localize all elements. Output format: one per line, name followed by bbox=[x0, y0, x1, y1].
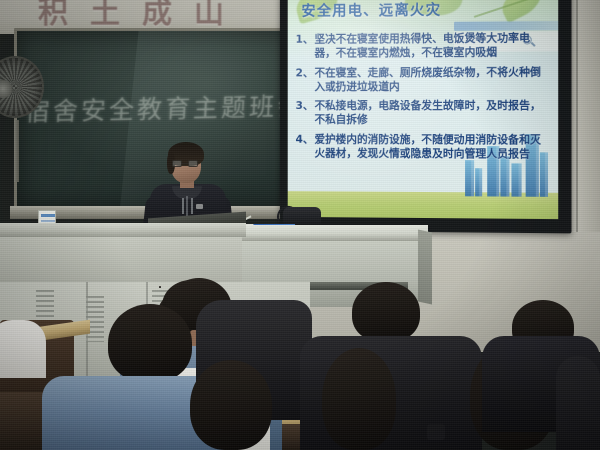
fan-mount-arm bbox=[14, 120, 19, 182]
slide-bullet-text: 不在寝室、走廊、厕所烧废纸杂物，不将火种倒入或扔进垃圾道内 bbox=[314, 65, 550, 94]
slide-bullet-number: 3、 bbox=[296, 99, 315, 127]
glasses-lens-left bbox=[172, 160, 182, 167]
student-head bbox=[322, 348, 396, 450]
presenter-jacket-logo bbox=[196, 204, 203, 209]
presenter-hood-string bbox=[182, 198, 184, 214]
student-head bbox=[352, 282, 420, 342]
slide-bullet-text: 不私接电源，电路设备发生故障时，及时报告，不私自拆修 bbox=[314, 99, 550, 128]
projection-screen[interactable]: 安全用电、远离火灾 1、 坚决不在寝室使用热得快、电饭煲等大功率电器，不在寝室内… bbox=[288, 0, 559, 219]
glasses-icon bbox=[172, 160, 200, 167]
fan-hub bbox=[0, 80, 12, 98]
slide-bullet-item: 4、 爱护楼内的消防设施，不随便动用消防设备和灭火器材，发现火情或隐患及时向管理… bbox=[296, 132, 551, 161]
student-torso bbox=[0, 320, 46, 378]
presenter-hood-string bbox=[191, 198, 193, 214]
student-head bbox=[190, 360, 272, 450]
slide-bullet-item: 3、 不私接电源，电路设备发生故障时，及时报告，不私自拆修 bbox=[296, 99, 551, 128]
blackboard: 宿舍安全教育主题班会 bbox=[17, 31, 297, 207]
desk-object[interactable] bbox=[427, 424, 445, 440]
slide-bullet-text: 爱护楼内的消防设施，不随便动用消防设备和灭火器材，发现火情或隐患及时向管理人员报… bbox=[314, 132, 550, 161]
slide-bullet-item: 1、 坚决不在寝室使用热得快、电饭煲等大功率电器，不在寝室内燃烛，不在寝室内吸烟 bbox=[296, 31, 551, 61]
projection-screen-frame: 安全用电、远离火灾 1、 坚决不在寝室使用热得快、电饭煲等大功率电器，不在寝室内… bbox=[280, 0, 572, 233]
slide-bullet-list: 1、 坚决不在寝室使用热得快、电饭煲等大功率电器，不在寝室内燃烛，不在寝室内吸烟… bbox=[296, 31, 551, 166]
podium-side-panel bbox=[418, 230, 432, 305]
wall-slogan: 积土成山 bbox=[38, 0, 246, 30]
slide-bullet-number: 4、 bbox=[296, 132, 315, 160]
slide-title: 安全用电、远离火灾 bbox=[301, 0, 441, 21]
cabinet-top bbox=[0, 223, 246, 237]
browser-bar-ghost bbox=[454, 21, 558, 31]
glasses-lens-right bbox=[188, 160, 198, 167]
slide-bullet-text: 坚决不在寝室使用热得快、电饭煲等大功率电器，不在寝室内燃烛，不在寝室内吸烟 bbox=[314, 31, 550, 61]
slide-bullet-number: 2、 bbox=[296, 66, 315, 94]
card-line bbox=[41, 220, 55, 222]
student-head bbox=[159, 286, 161, 288]
student-torso bbox=[556, 356, 600, 450]
student-head bbox=[108, 304, 192, 382]
classroom-photo: 积土成山 宿舍安全教育主题班会 bbox=[0, 0, 600, 450]
slide-bullet-number: 1、 bbox=[296, 33, 315, 61]
card-line bbox=[41, 214, 55, 217]
wall-seam bbox=[576, 0, 578, 250]
slide-bullet-item: 2、 不在寝室、走廊、厕所烧废纸杂物，不将火种倒入或扔进垃圾道内 bbox=[296, 65, 551, 94]
podium-surface[interactable] bbox=[232, 225, 428, 241]
blackboard-chalk-text: 宿舍安全教育主题班会 bbox=[24, 94, 288, 125]
